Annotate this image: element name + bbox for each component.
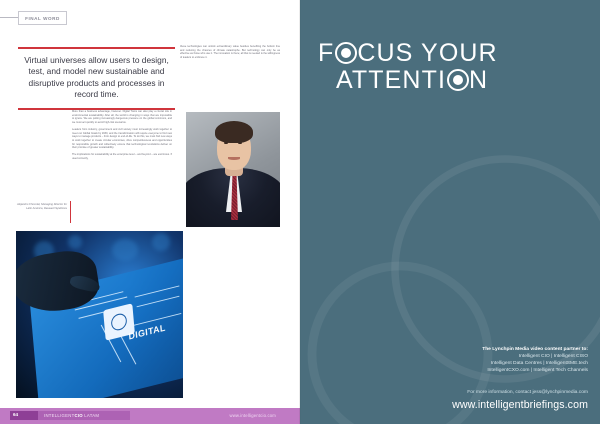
headline-rest-1: CUS YOUR — [357, 39, 497, 67]
partner-line: Intelligent Data Centres | IntelligentSM… — [408, 360, 588, 367]
portrait-eye-left — [224, 142, 228, 144]
headline-line-2: ATTENTIN — [318, 67, 548, 94]
body-column-a: More than a business advantage, however.… — [72, 110, 172, 164]
target-icon — [335, 42, 357, 64]
page-number: 64 — [13, 412, 18, 417]
headline: FCUS YOUR ATTENTIN — [318, 40, 548, 94]
digital-circuit-photo: DIGITAL — [16, 231, 183, 398]
bokeh-light — [68, 235, 82, 249]
pull-quote-text: Virtual universes allow users to design,… — [18, 49, 175, 104]
magazine-spread: FINAL WORD Virtual universes allow users… — [0, 0, 600, 424]
partner-heading: The Lynchpin Media video content partner… — [408, 346, 588, 353]
body-paragraph: The implications for sustainability at t… — [72, 153, 172, 160]
body-paragraph: More than a business advantage, however.… — [72, 110, 172, 125]
footer-url[interactable]: www.intelligentcio.com — [229, 413, 276, 418]
attribution-rule — [70, 201, 71, 223]
body-column-b: these technologies can unlock extraordin… — [180, 45, 280, 63]
target-icon — [447, 69, 469, 91]
pull-quote-block: Virtual universes allow users to design,… — [18, 47, 175, 110]
watermark-circle-icon — [300, 244, 510, 424]
left-page: FINAL WORD Virtual universes allow users… — [0, 0, 300, 424]
body-paragraph: Leaders from industry, government and ci… — [72, 128, 172, 150]
kicker-rule — [0, 17, 18, 18]
portrait-mouth — [228, 157, 240, 160]
contact-text[interactable]: For more information, contact jess@lynch… — [408, 390, 588, 395]
partner-block: The Lynchpin Media video content partner… — [408, 346, 588, 374]
page-footer: 64 INTELLIGENTCIO LATAM www.intelligentc… — [0, 408, 300, 424]
partner-line: IntelligentCXO.com | Intelligent Tech Ch… — [408, 367, 588, 374]
website-url[interactable]: www.intelligentbriefings.com — [388, 399, 588, 411]
portrait-hair — [215, 121, 253, 143]
footer-magazine-name: INTELLIGENT — [44, 413, 74, 418]
partner-line: Intelligent CIO | Intelligent CISO — [408, 353, 588, 360]
portrait-eye-right — [238, 142, 242, 144]
bokeh-light — [152, 233, 170, 251]
author-portrait — [186, 112, 280, 227]
spread-gutter — [299, 0, 301, 424]
body-paragraph: these technologies can unlock extraordin… — [180, 45, 280, 60]
headline-attenti: ATTENTI — [336, 66, 446, 94]
right-page-advert: FCUS YOUR ATTENTIN BRAND CONNECT WITH PR… — [300, 0, 600, 424]
kicker-text: FINAL WORD — [25, 16, 60, 21]
headline-f: F — [318, 39, 334, 67]
footer-edition: LATAM — [84, 413, 99, 418]
headline-n: N — [469, 66, 488, 94]
footer-magazine-bold: CIO — [74, 413, 82, 418]
bokeh-light — [112, 239, 138, 261]
headline-line-1: FCUS YOUR — [318, 40, 548, 67]
attribution-text: Alejandro Chocolat, Managing Director fo… — [12, 203, 67, 211]
kicker-label: FINAL WORD — [18, 11, 67, 25]
footer-magazine-title: INTELLIGENTCIO LATAM — [44, 413, 99, 418]
